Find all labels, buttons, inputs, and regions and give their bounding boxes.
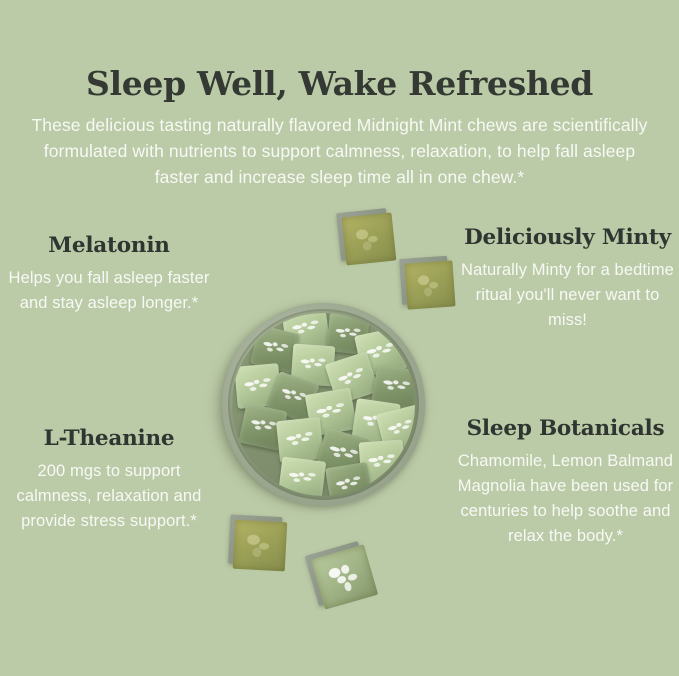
loose-chew-bottom-center <box>311 544 378 609</box>
feature-l-theanine: L-Theanine 200 mgs to support calmness, … <box>6 425 212 534</box>
bowl-contents <box>232 313 415 496</box>
loose-chew-bottom-left <box>233 520 287 572</box>
chew-cube <box>342 213 397 266</box>
chew <box>325 462 373 496</box>
feature-melatonin-title: Melatonin <box>6 232 212 260</box>
glass-bowl <box>222 303 425 506</box>
feature-deliciously-minty: Deliciously Minty Naturally Minty for a … <box>458 224 677 333</box>
feature-melatonin-body: Helps you fall asleep faster and stay as… <box>6 266 212 316</box>
feature-l-theanine-title: L-Theanine <box>6 425 212 453</box>
feature-melatonin: Melatonin Helps you fall asleep faster a… <box>6 232 212 316</box>
intro-paragraph: These delicious tasting naturally flavor… <box>30 112 650 190</box>
chew-cube <box>233 520 287 572</box>
page-title: Sleep Well, Wake Refreshed <box>0 66 679 102</box>
feature-sleep-botanicals-title: Sleep Botanicals <box>452 415 679 443</box>
feature-sleep-botanicals: Sleep Botanicals Chamomile, Lemon Balman… <box>452 415 679 549</box>
chew <box>278 456 327 496</box>
feature-sleep-botanicals-body: Chamomile, Lemon Balmand Magnolia have b… <box>452 449 679 549</box>
loose-chew-top-left <box>342 213 397 266</box>
feature-deliciously-minty-title: Deliciously Minty <box>458 224 677 252</box>
sleep-chews-infographic: Sleep Well, Wake Refreshed These delicio… <box>0 0 679 676</box>
feature-l-theanine-body: 200 mgs to support calmness, relaxation … <box>6 459 212 534</box>
feature-deliciously-minty-body: Naturally Minty for a bedtime ritual you… <box>458 258 677 333</box>
bowl-of-chews <box>213 294 435 516</box>
